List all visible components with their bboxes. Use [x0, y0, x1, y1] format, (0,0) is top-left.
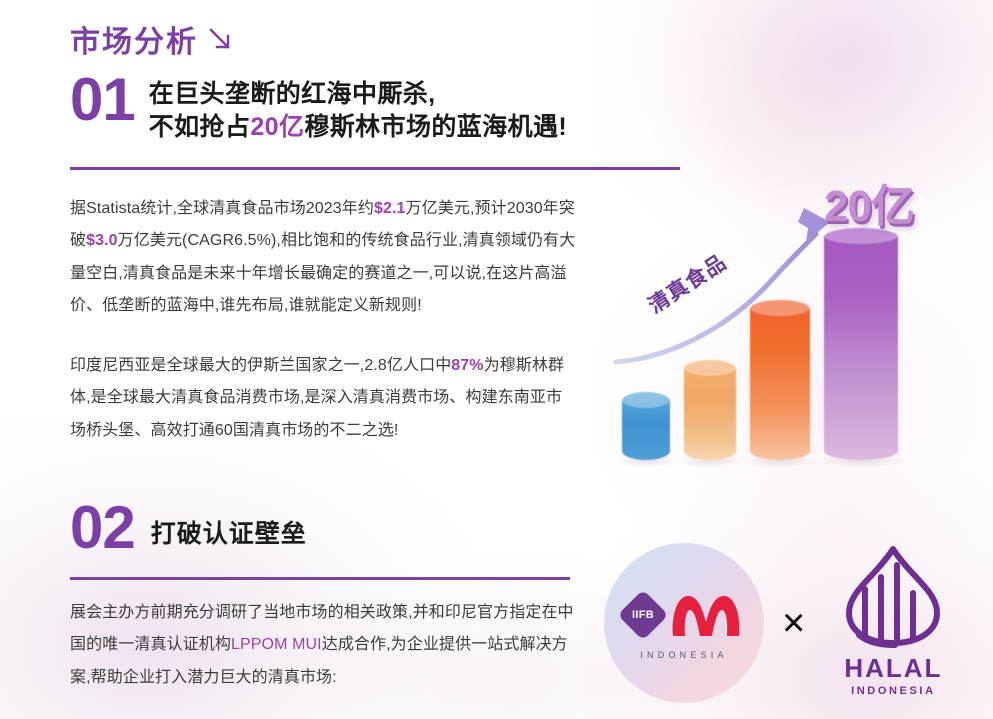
- halal-gunungan-icon: [835, 543, 951, 655]
- section-01-title-line-2: 不如抢占20亿穆斯林市场的蓝海机遇!: [149, 111, 567, 144]
- divider-section-01: [70, 167, 680, 170]
- paragraph-1-highlight-1: $2.1: [374, 200, 406, 217]
- section-01-paragraph-1: 据Statista统计,全球清真食品市场2023年约$2.1万亿美元,预计203…: [70, 193, 578, 323]
- title-line2-suffix: 穆斯林市场的蓝海机遇!: [304, 113, 567, 141]
- arrow-down-right-icon: [207, 26, 233, 52]
- halal-word-label: HALAL: [844, 653, 942, 684]
- section-01-number: 01: [70, 72, 135, 127]
- paragraph-1-text-a: 据Statista统计,全球清真食品市场2023年约: [70, 200, 374, 217]
- iifb-diamond-label: IIFB: [632, 608, 654, 620]
- iifb-diamond-icon: IIFB: [618, 589, 669, 640]
- partner-logos: IIFB INDONESIA × HALAL: [604, 540, 964, 705]
- page-eyebrow: 市场分析: [70, 17, 233, 61]
- paragraph-3-highlight-1: LPPOM MUI: [231, 636, 322, 653]
- title-line2-prefix: 不如抢占: [149, 113, 251, 141]
- section-02-title: 打破认证壁垒: [151, 514, 307, 550]
- section-01-heading: 01 在巨头垄断的红海中厮杀, 不如抢占20亿穆斯林市场的蓝海机遇!: [70, 72, 567, 144]
- iifb-indonesia-logo: IIFB INDONESIA: [604, 543, 764, 703]
- poster-page: 市场分析 01 在巨头垄断的红海中厮杀, 不如抢占20亿穆斯林市场的蓝海机遇! …: [0, 0, 993, 719]
- chart-bar-4: [824, 228, 898, 460]
- title-line2-highlight: 20亿: [250, 113, 304, 141]
- section-01-title: 在巨头垄断的红海中厮杀, 不如抢占20亿穆斯林市场的蓝海机遇!: [149, 78, 567, 144]
- paragraph-1-text-c: 万亿美元(CAGR6.5%),相比饱和的传统食品行业,清真领域仍有大量空白,清真…: [70, 232, 575, 314]
- eyebrow-label: 市场分析: [70, 17, 198, 61]
- section-01-paragraph-2: 印度尼西亚是全球最大的伊斯兰国家之一,2.8亿人口中87%为穆斯林群体,是全球最…: [70, 350, 578, 447]
- chart-value-label: 20亿: [824, 170, 914, 234]
- section-02-heading: 02 打破认证壁垒: [70, 500, 307, 555]
- section-01-title-line-1: 在巨头垄断的红海中厮杀,: [149, 78, 567, 111]
- chart-bar-2: [684, 360, 736, 460]
- paragraph-1-highlight-2: $3.0: [86, 232, 118, 249]
- divider-section-02: [70, 577, 570, 580]
- iifb-country-label: INDONESIA: [640, 650, 727, 660]
- chart-bar-3: [750, 300, 810, 460]
- growth-bar-chart: 清真食品 20亿: [608, 172, 993, 472]
- paragraph-2-highlight-1: 87%: [451, 357, 483, 374]
- halal-indonesia-logo: HALAL INDONESIA: [823, 543, 963, 703]
- chart-bar-1: [622, 392, 670, 460]
- partnership-x-icon: ×: [782, 603, 805, 643]
- paragraph-2-text-a: 印度尼西亚是全球最大的伊斯兰国家之一,2.8亿人口中: [70, 357, 451, 374]
- halal-country-label: INDONESIA: [851, 685, 936, 697]
- iifb-logo-row: IIFB: [625, 592, 743, 638]
- section-02-number: 02: [70, 500, 135, 555]
- mandiri-m-mark-icon: [669, 592, 743, 638]
- section-02-paragraph: 展会主办方前期充分调研了当地市场的相关政策,并和印尼官方指定在中国的唯一清真认证…: [70, 597, 575, 694]
